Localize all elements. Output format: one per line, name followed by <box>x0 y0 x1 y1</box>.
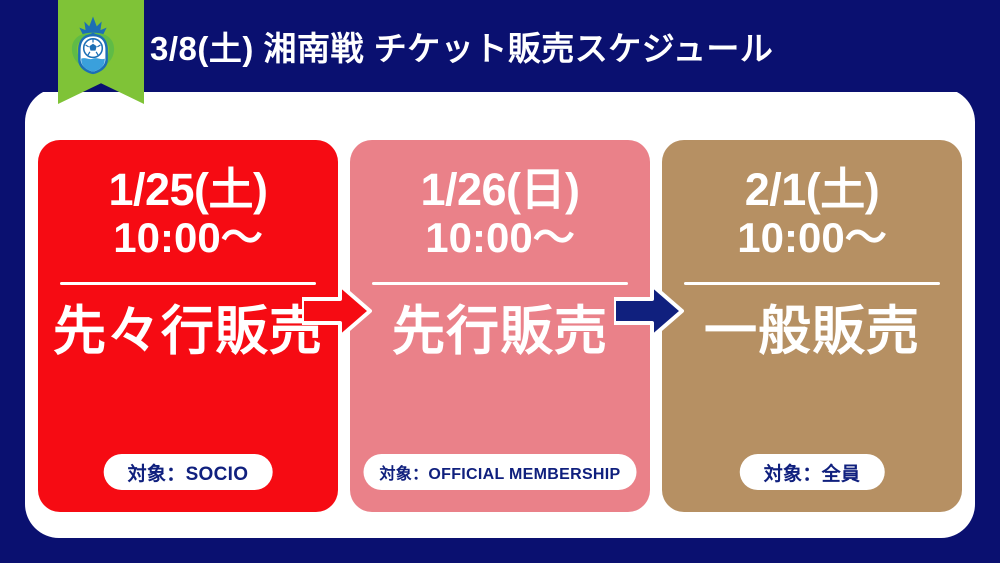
arrow-step-2-to-3-icon <box>614 283 684 339</box>
card-audience-badge: 対象：SOCIO <box>104 454 273 490</box>
card-sale-label: 一般販売 <box>704 305 920 358</box>
schedule-cards: 1/25(土) 10:00〜 先々行販売 対象：SOCIO 1/26(日) 10… <box>38 140 962 512</box>
card-sale-label: 先々行販売 <box>53 305 323 358</box>
schedule-card-1[interactable]: 1/25(土) 10:00〜 先々行販売 対象：SOCIO <box>38 140 338 512</box>
card-time: 10:00〜 <box>425 216 574 260</box>
card-date: 1/25(土) <box>108 166 267 214</box>
card-audience-badge: 対象：全員 <box>740 454 885 490</box>
schedule-card-3[interactable]: 2/1(土) 10:00〜 一般販売 対象：全員 <box>662 140 962 512</box>
card-divider <box>372 282 628 285</box>
card-divider <box>684 282 940 285</box>
card-time: 10:00〜 <box>737 216 886 260</box>
card-date: 1/26(日) <box>420 166 579 214</box>
page-title: 3/8(土) 湘南戦 チケット販売スケジュール <box>150 20 773 72</box>
card-time: 10:00〜 <box>113 216 262 260</box>
card-divider <box>60 282 316 285</box>
card-audience-badge: 対象：OFFICIAL MEMBERSHIP <box>364 454 637 490</box>
card-sale-label: 先行販売 <box>392 305 608 358</box>
schedule-card-2[interactable]: 1/26(日) 10:00〜 先行販売 対象：OFFICIAL MEMBERSH… <box>350 140 650 512</box>
ticket-schedule-graphic: 3/8(土) 湘南戦 チケット販売スケジュール 1/25(土) 10:00〜 先… <box>0 0 1000 563</box>
arrow-step-1-to-2-icon <box>302 283 372 339</box>
card-date: 2/1(土) <box>745 166 880 214</box>
shonan-bellmare-crest-icon <box>62 14 124 76</box>
